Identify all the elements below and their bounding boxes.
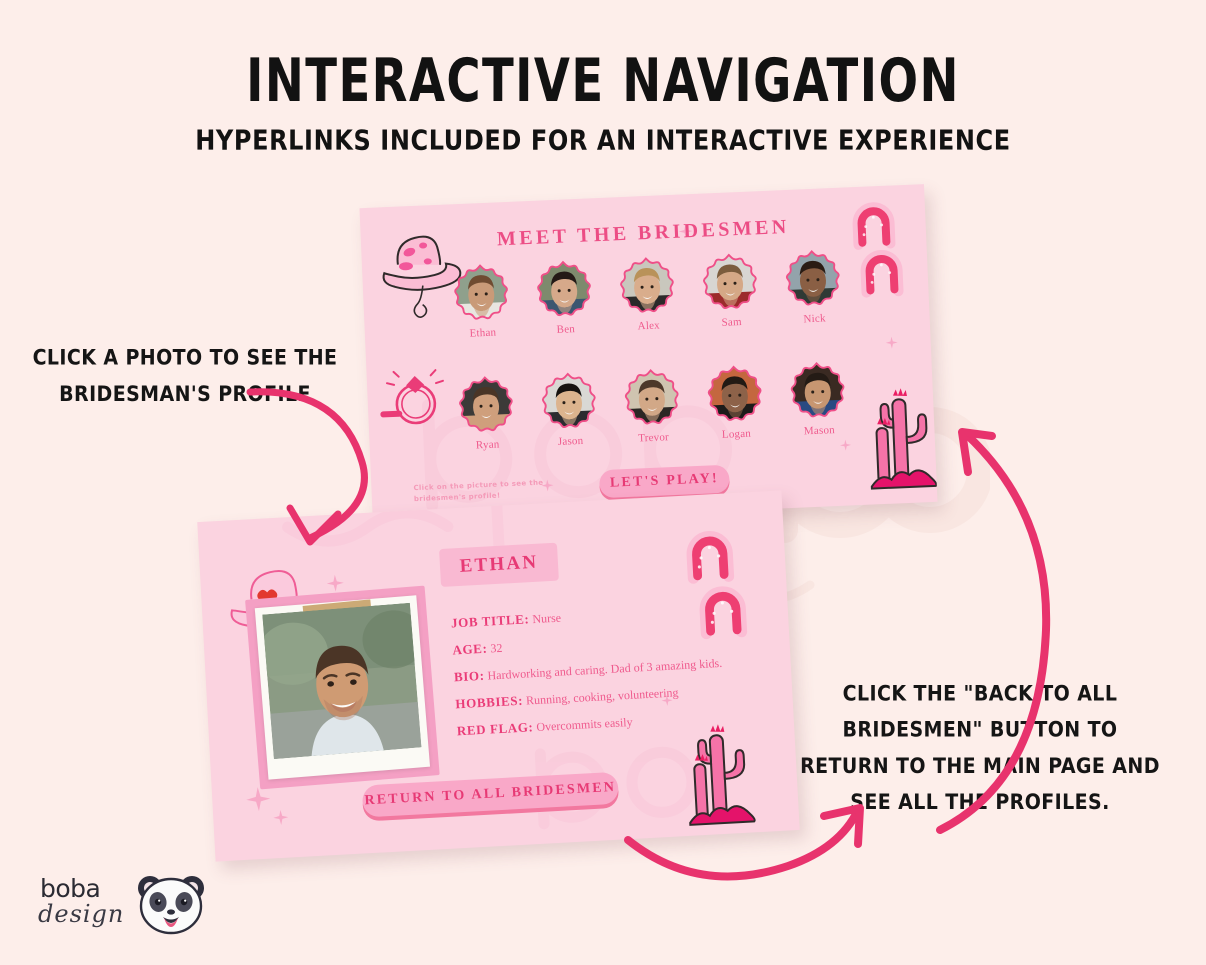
field-value: 32 xyxy=(490,641,503,656)
profile-field-bio: BIO:Hardworking and caring. Dad of 3 ama… xyxy=(454,655,744,685)
page-subtitle: HYPERLINKS INCLUDED FOR AN INTERACTIVE E… xyxy=(0,124,1206,156)
annotation-left: CLICK A PHOTO TO SEE THE BRIDESMAN'S PRO… xyxy=(20,340,350,412)
bridesman-name: Ethan xyxy=(449,326,517,341)
bridesman-name: Logan xyxy=(702,427,770,442)
profile-field-jobtitle: JOB TITLE:Nurse xyxy=(451,601,741,631)
field-label: BIO: xyxy=(454,668,485,685)
bridesman-ethan[interactable]: Ethan xyxy=(446,262,517,341)
bridesman-name: Mason xyxy=(785,423,853,438)
bridesman-nick[interactable]: Nick xyxy=(778,247,849,326)
profile-name-badge: ETHAN xyxy=(439,543,559,587)
bridesman-sam[interactable]: Sam xyxy=(695,251,766,330)
bridesman-name: Ryan xyxy=(453,438,521,453)
bridesman-photo[interactable] xyxy=(782,248,845,311)
bridesman-photo[interactable] xyxy=(450,262,513,325)
field-label: HOBBIES: xyxy=(455,693,523,712)
bridesman-name: Trevor xyxy=(619,430,687,445)
sparkle-icon xyxy=(840,437,852,455)
sparkle-icon xyxy=(273,810,289,831)
profile-field-age: AGE:32 xyxy=(452,628,742,658)
lets-play-button[interactable]: LET'S PLAY! xyxy=(599,465,730,499)
boba-design-logo: boba design xyxy=(40,868,215,946)
slide-bridesman-profile[interactable]: ETHAN JOB TITLE:NurseAGE:32BIO:Hardworki… xyxy=(197,490,800,861)
field-value: Overcommits easily xyxy=(536,715,633,734)
bridesman-photo[interactable] xyxy=(538,370,601,433)
logo-tagline: design xyxy=(38,900,124,928)
bridesman-name: Nick xyxy=(780,311,848,326)
bridesmen-row-2: Ryan Jason Trevor xyxy=(451,359,854,452)
bridesman-name: Jason xyxy=(536,434,604,449)
bridesman-ryan[interactable]: Ryan xyxy=(451,374,522,453)
field-value: Running, cooking, volunteering xyxy=(526,685,679,707)
bridesman-photo[interactable] xyxy=(699,251,762,314)
slide-meet-the-bridesmen[interactable]: MEET THE BRIDESMEN Ethan Ben xyxy=(359,184,937,526)
bridesman-name: Sam xyxy=(697,315,765,330)
bridesman-mason[interactable]: Mason xyxy=(782,359,853,438)
cactus-icon xyxy=(861,380,937,504)
bridesman-ben[interactable]: Ben xyxy=(529,258,600,337)
horseshoe-icon xyxy=(676,523,744,595)
bridesman-name: Alex xyxy=(615,319,683,334)
logo-name: boba xyxy=(40,874,100,903)
field-label: RED FLAG: xyxy=(456,719,533,738)
bridesman-alex[interactable]: Alex xyxy=(612,255,683,334)
ring-icon xyxy=(378,367,451,437)
field-value: Nurse xyxy=(532,611,561,627)
profile-field-redflag: RED FLAG:Overcommits easily xyxy=(457,709,747,739)
field-value: Hardworking and caring. Dad of 3 amazing… xyxy=(487,656,722,683)
sparkle-icon xyxy=(246,787,272,817)
click-hint-text: Click on the picture to see the bridesme… xyxy=(413,477,554,505)
bridesman-photo[interactable] xyxy=(455,374,518,437)
bridesman-name: Ben xyxy=(532,322,600,337)
bridesman-jason[interactable]: Jason xyxy=(534,370,605,449)
bridesman-trevor[interactable]: Trevor xyxy=(617,366,688,445)
bridesman-photo[interactable] xyxy=(533,258,596,321)
bridesman-logan[interactable]: Logan xyxy=(700,363,771,442)
bridesman-photo[interactable] xyxy=(616,255,679,318)
profile-photo xyxy=(262,603,421,759)
profile-fields: JOB TITLE:NurseAGE:32BIO:Hardworking and… xyxy=(451,601,748,751)
bridesman-photo[interactable] xyxy=(786,360,849,423)
profile-photo-polaroid xyxy=(245,586,440,790)
bridesman-photo[interactable] xyxy=(621,367,684,430)
polaroid-frame xyxy=(255,595,430,779)
annotation-right: CLICK THE "BACK TO ALL BRIDESMEN" BUTTON… xyxy=(800,676,1160,821)
sparkle-icon xyxy=(885,335,898,353)
return-to-all-bridesmen-button[interactable]: RETURN TO ALL BRIDESMEN xyxy=(362,772,619,818)
bridesmen-row-1: Ethan Ben Alex xyxy=(446,247,849,340)
profile-field-hobbies: HOBBIES:Running, cooking, volunteering xyxy=(455,682,745,712)
field-label: JOB TITLE: xyxy=(451,611,530,630)
panda-icon xyxy=(132,870,210,940)
field-label: AGE: xyxy=(452,641,488,658)
bridesman-photo[interactable] xyxy=(704,363,767,426)
horseshoe-icon xyxy=(851,243,912,308)
page-title: INTERACTIVE NAVIGATION xyxy=(30,46,1176,116)
